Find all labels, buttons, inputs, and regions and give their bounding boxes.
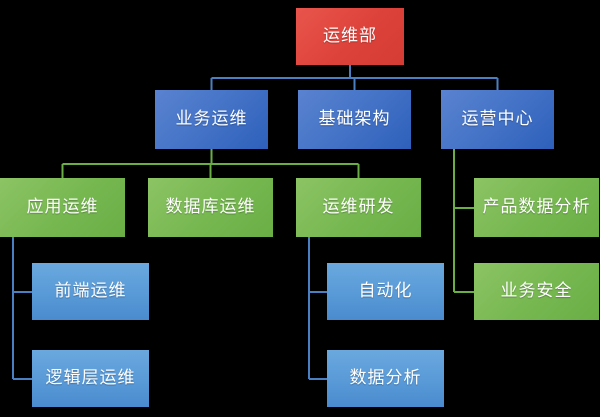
org-node-label: 业务安全 — [501, 281, 573, 301]
org-node-n7[interactable]: 产品数据分析 — [474, 178, 599, 237]
org-node-n9[interactable]: 自动化 — [327, 263, 444, 320]
org-node-label: 运营中心 — [462, 109, 534, 129]
org-node-label: 运维部 — [323, 26, 377, 46]
org-node-label: 数据库运维 — [166, 197, 256, 217]
org-node-n6[interactable]: 运维研发 — [296, 178, 421, 237]
org-node-label: 应用运维 — [27, 197, 99, 217]
org-node-label: 数据分析 — [350, 368, 422, 388]
org-node-label: 运维研发 — [323, 197, 395, 217]
org-node-label: 逻辑层运维 — [46, 368, 136, 388]
org-node-n1[interactable]: 业务运维 — [155, 90, 268, 149]
org-node-n12[interactable]: 数据分析 — [327, 350, 444, 407]
org-node-n0[interactable]: 运维部 — [296, 8, 404, 65]
org-node-n11[interactable]: 逻辑层运维 — [32, 350, 149, 407]
org-node-n2[interactable]: 基础架构 — [298, 90, 411, 149]
org-node-n3[interactable]: 运营中心 — [441, 90, 554, 149]
org-node-n10[interactable]: 业务安全 — [474, 263, 599, 320]
org-node-label: 自动化 — [359, 281, 413, 301]
org-node-label: 产品数据分析 — [483, 197, 591, 217]
org-node-n8[interactable]: 前端运维 — [32, 263, 149, 320]
org-node-label: 基础架构 — [319, 109, 391, 129]
org-node-label: 业务运维 — [176, 109, 248, 129]
org-node-n4[interactable]: 应用运维 — [0, 178, 125, 237]
org-chart-diagram: 运维部业务运维基础架构运营中心应用运维数据库运维运维研发产品数据分析前端运维自动… — [0, 0, 600, 417]
org-node-n5[interactable]: 数据库运维 — [148, 178, 273, 237]
org-node-label: 前端运维 — [55, 281, 127, 301]
